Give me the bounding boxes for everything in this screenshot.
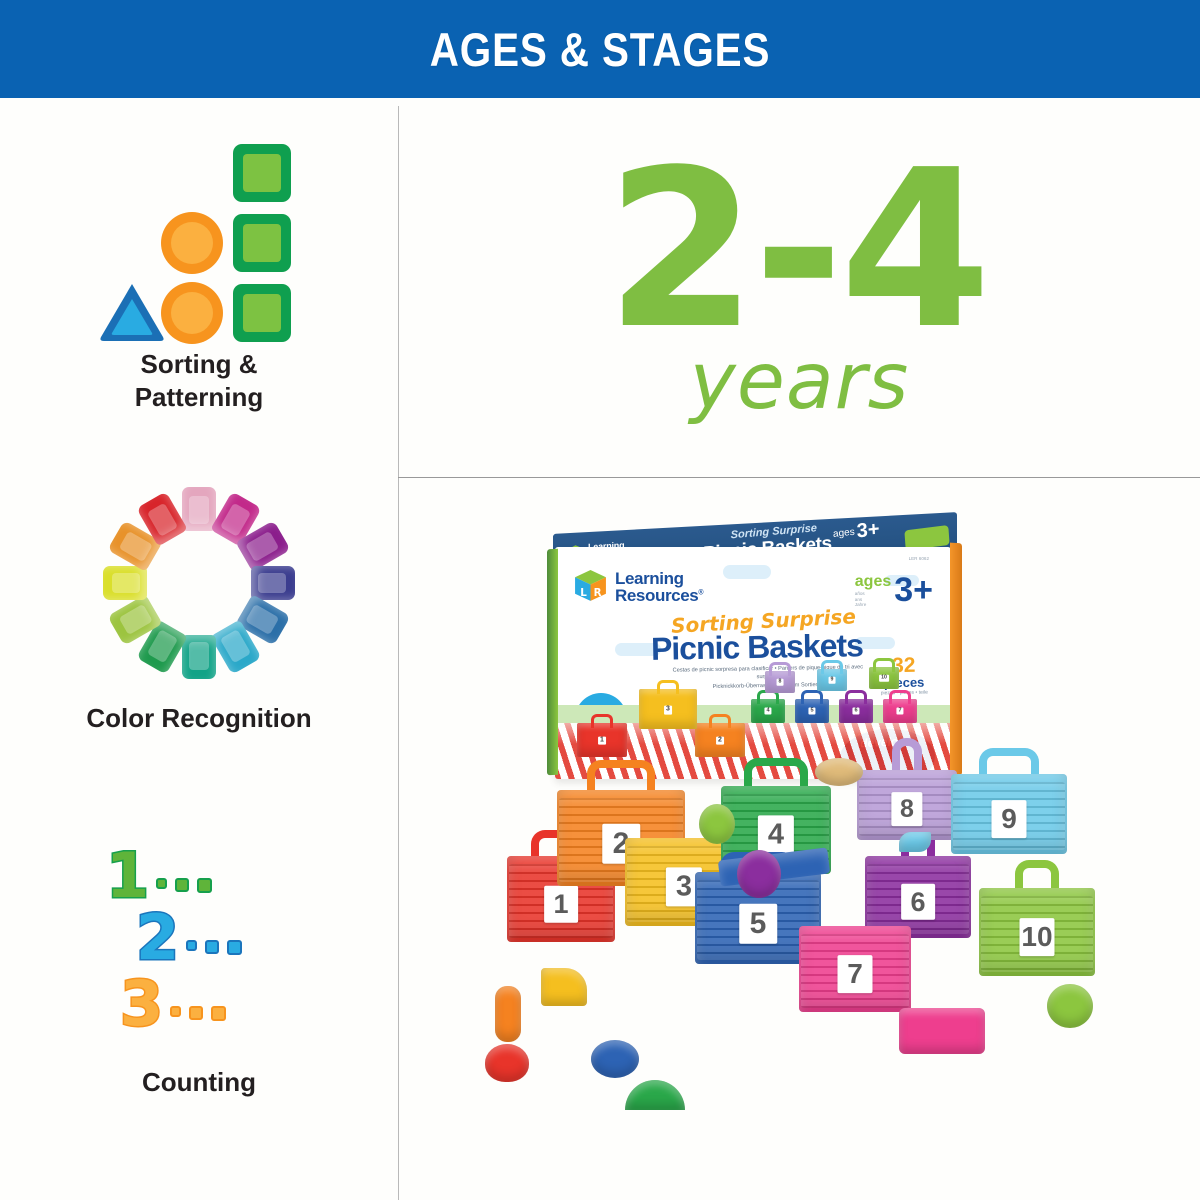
mini-basket-number: 10 [879,675,889,682]
mini-basket-handle [591,714,613,728]
mini-basket-handle [845,690,867,704]
donut-piece [815,758,863,786]
skill-label-counting: Counting [0,1066,398,1099]
box-mini-basket-7: 7 [883,699,917,723]
counting-row: 2 [136,912,242,965]
box-mini-basket-4: 4 [751,699,785,723]
apple-piece [1047,984,1093,1028]
mini-basket-handle [889,690,911,704]
ages-word: ages [855,573,891,591]
age-range: 2-4 [606,162,988,341]
shapes-sorting-icon [0,124,398,334]
cheese-piece [541,968,587,1006]
mini-basket-number: 4 [764,708,771,715]
brand-line-2: Resources [615,586,698,605]
brand-name: Learning Resources® [615,570,703,604]
skill-sorting-patterning: Sorting & Patterning [0,124,398,415]
green-square-icon [233,284,291,342]
basket-7-pink: 7 [799,926,911,1012]
mini-basket-handle [873,658,895,672]
basket-number-4: 4 [758,816,794,855]
mini-basket-number: 9 [829,677,836,684]
basket-number-1: 1 [544,886,578,922]
box-mini-basket-6: 6 [839,699,873,723]
color-wheel-icon [0,478,398,688]
mini-basket-handle [801,690,823,704]
color-wheel [101,485,297,681]
counting-numerals: 123 [84,850,314,1045]
counting-dot [189,1006,203,1020]
ages-and-stages-infographic: AGES & STAGES Sorting [0,0,1200,1200]
box-top-ages: ages3+ [832,518,880,546]
box-mini-basket-5: 5 [795,699,829,723]
green-square-icon [233,214,291,272]
skill-counting: 123 Counting [0,842,398,1099]
counting-dot [175,878,189,892]
bird-piece [899,832,931,852]
counting-dot [186,940,197,951]
orange-circle-icon [161,212,223,274]
counting-dot [211,1006,226,1021]
skill-label-sorting-patterning: Sorting & Patterning [0,348,398,415]
cloud-decoration [723,565,771,579]
green-square-icon [233,144,291,202]
counting-numeral: 1 [106,850,149,903]
mini-basket-handle [709,714,731,728]
mini-basket-number: 8 [777,679,784,686]
grapes-piece [737,850,781,898]
basket-number-5: 5 [739,903,777,944]
registered-mark: ® [698,589,703,596]
basket-number-7: 7 [838,955,873,993]
counting-dots [170,1006,226,1021]
skill-label-color-recognition: Color Recognition [0,702,398,735]
mini-basket-number: 7 [896,708,903,715]
mini-basket-handle [769,662,791,676]
avocado-piece [699,804,735,844]
counting-numeral: 3 [120,978,163,1031]
strawberry-piece [485,1044,529,1082]
page-title: AGES & STAGES [430,22,771,77]
svg-text:R: R [594,587,602,599]
blueberries-piece [591,1040,639,1078]
counting-dot [197,878,212,893]
age-panel: 2-4 years [399,106,1200,477]
basket-number-10: 10 [1020,918,1055,956]
lr-cube-icon: L R [573,569,608,604]
basket-number-8: 8 [891,792,922,826]
mini-basket-handle [657,680,679,694]
basket-10-lightgreen: 10 [979,888,1095,976]
age-unit: years [690,343,910,421]
box-mini-basket-9: 9 [817,669,847,691]
ages-langs: años ans Jahre [855,591,891,608]
counting-dot [156,878,167,889]
basket-number-9: 9 [992,800,1027,838]
ages-badge: ages años ans Jahre 3+ [855,573,933,608]
mini-basket-handle [821,660,843,674]
counting-numeral: 2 [136,912,179,965]
box-sku: LER 6062 [909,556,929,561]
basket-9-lightblue: 9 [951,774,1067,854]
product-image-panel: L R Learning Resources Sorting Surprise … [399,478,1200,1200]
popsicle-piece [495,986,521,1042]
mini-basket-number: 6 [852,708,859,715]
counting-dot [170,1006,181,1017]
watermelon-piece [625,1080,685,1110]
counting-dot [227,940,242,955]
counting-row: 1 [106,850,212,903]
basket-number-6: 6 [901,884,935,920]
counting-dots [186,940,242,955]
svg-text:L: L [580,587,587,599]
loose-pieces-area: 12345678910 [399,728,1200,1200]
pink-lid-piece [899,1008,985,1054]
orange-circle-icon [161,282,223,344]
basket-8-lavender: 8 [857,770,957,840]
box-mini-basket-10: 10 [869,667,899,689]
box-mini-basket-8: 8 [765,671,795,693]
header-bar: AGES & STAGES [0,0,1200,98]
learning-resources-logo: L R Learning Resources® [573,569,703,604]
box-mini-basket-3: 3 [639,689,697,729]
mini-basket-number: 5 [808,708,815,715]
counting-dots [156,878,212,893]
counting-dot [205,940,219,954]
numbers-counting-icon: 123 [0,842,398,1052]
skills-column: Sorting & Patterning Color Recognition 1… [0,106,398,1200]
mini-basket-number: 3 [664,705,672,714]
ages-value: 3+ [894,577,933,604]
blue-triangle-icon [99,282,165,342]
counting-row: 3 [120,978,226,1031]
skill-color-recognition: Color Recognition [0,478,398,735]
